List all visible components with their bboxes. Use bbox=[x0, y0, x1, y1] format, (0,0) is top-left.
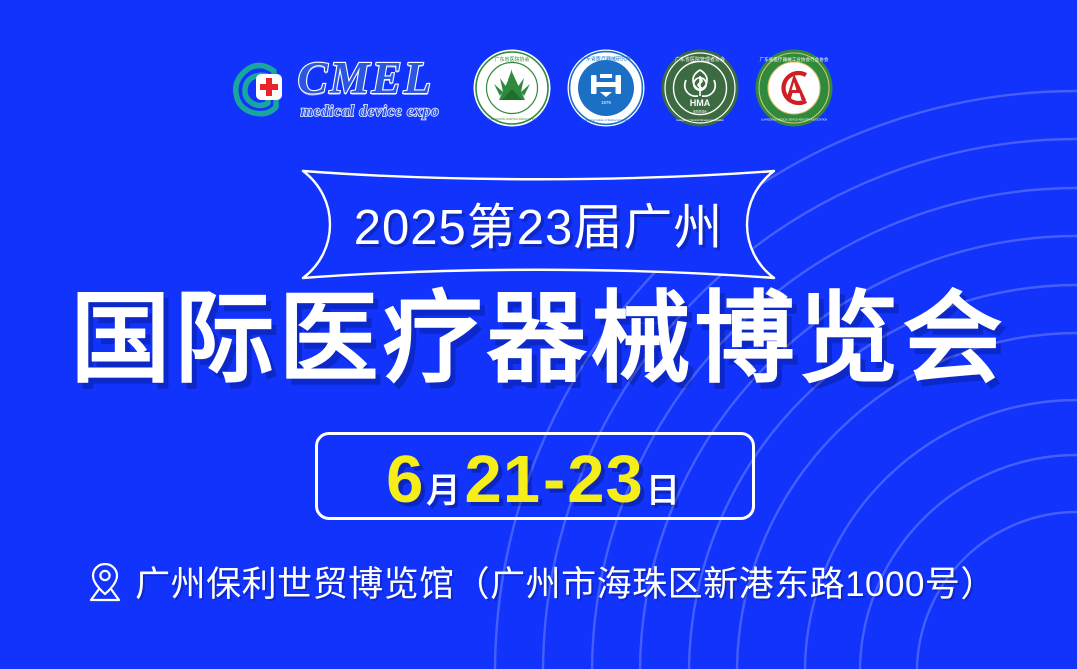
date-month-unit: 月 bbox=[426, 474, 460, 508]
cmel-wordmark: CMEL bbox=[298, 56, 440, 101]
cmel-brand-lockup: CMEL medical device expo bbox=[230, 56, 440, 120]
date-row: 6 月 21 - 23 日 bbox=[386, 446, 684, 513]
guangdong-hospital-association-badge: 广东省医院协会 GUANGDONG HOSPITAL ASSOCIATION bbox=[472, 48, 552, 128]
venue-line: 广州保利世贸博览馆（广州市海珠区新港东路1000号） bbox=[0, 556, 1077, 607]
svg-text:广东省医疗器械研究所: 广东省医疗器械研究所 bbox=[581, 56, 631, 63]
svg-text:Guangdong Institute of Medical: Guangdong Institute of Medical Instrumen… bbox=[582, 119, 631, 122]
poster-canvas: CMEL medical device expo 广东省医院协会 GUA bbox=[0, 0, 1077, 669]
svg-text:Guangdong Hospital Managers As: Guangdong Hospital Managers Association bbox=[676, 119, 725, 122]
svg-text:GUANGDONG HOSPITAL ASSOCIATION: GUANGDONG HOSPITAL ASSOCIATION bbox=[488, 117, 537, 121]
venue-text: 广州保利世贸博览馆（广州市海珠区新港东路1000号） bbox=[135, 556, 996, 607]
date-day-end: 23 bbox=[567, 446, 644, 513]
page-title: 国际医疗器械博览会 bbox=[0, 287, 1077, 392]
date-month-number: 6 bbox=[386, 446, 424, 513]
date-day-start: 21 bbox=[464, 446, 541, 513]
hma-hospital-managers-association-badge: 广东省医院管理者协会 HMA 医院管理者 Guangdong Hospital … bbox=[660, 48, 740, 128]
svg-text:广东省医院协会: 广东省医院协会 bbox=[495, 56, 530, 63]
svg-text:广东省医疗器械工业协会行业协会: 广东省医疗器械工业协会行业协会 bbox=[760, 56, 829, 63]
medical-equipment-industry-association-badge: 广东省医疗器械工业协会行业协会 GUANGDONG MEDICAL DEVICE… bbox=[754, 48, 834, 128]
svg-text:医院管理者: 医院管理者 bbox=[694, 110, 708, 114]
ribbon-label: 2025第23届广州 bbox=[300, 168, 777, 281]
svg-text:广东省医院管理者协会: 广东省医院管理者协会 bbox=[675, 56, 725, 63]
date-range-dash: - bbox=[543, 446, 565, 513]
cmel-g-cross-logo bbox=[230, 57, 290, 119]
svg-text:HMA: HMA bbox=[690, 98, 711, 108]
svg-text:GUANGDONG MEDICAL DEVICE INDUS: GUANGDONG MEDICAL DEVICE INDUSTRY ASSOCI… bbox=[761, 119, 827, 122]
sponsor-logo-strip: CMEL medical device expo 广东省医院协会 GUA bbox=[0, 36, 1077, 140]
location-pin-icon bbox=[87, 561, 123, 603]
cmel-tagline: medical device expo bbox=[301, 104, 440, 120]
date-day-unit: 日 bbox=[646, 474, 680, 508]
ribbon-banner: 2025第23届广州 bbox=[300, 168, 777, 281]
svg-text:1979: 1979 bbox=[602, 100, 612, 105]
guangdong-institute-medical-instruments-badge: 1979 广东省医疗器械研究所 Guangdong Institute of M… bbox=[566, 48, 646, 128]
date-badge: 6 月 21 - 23 日 bbox=[315, 432, 755, 520]
